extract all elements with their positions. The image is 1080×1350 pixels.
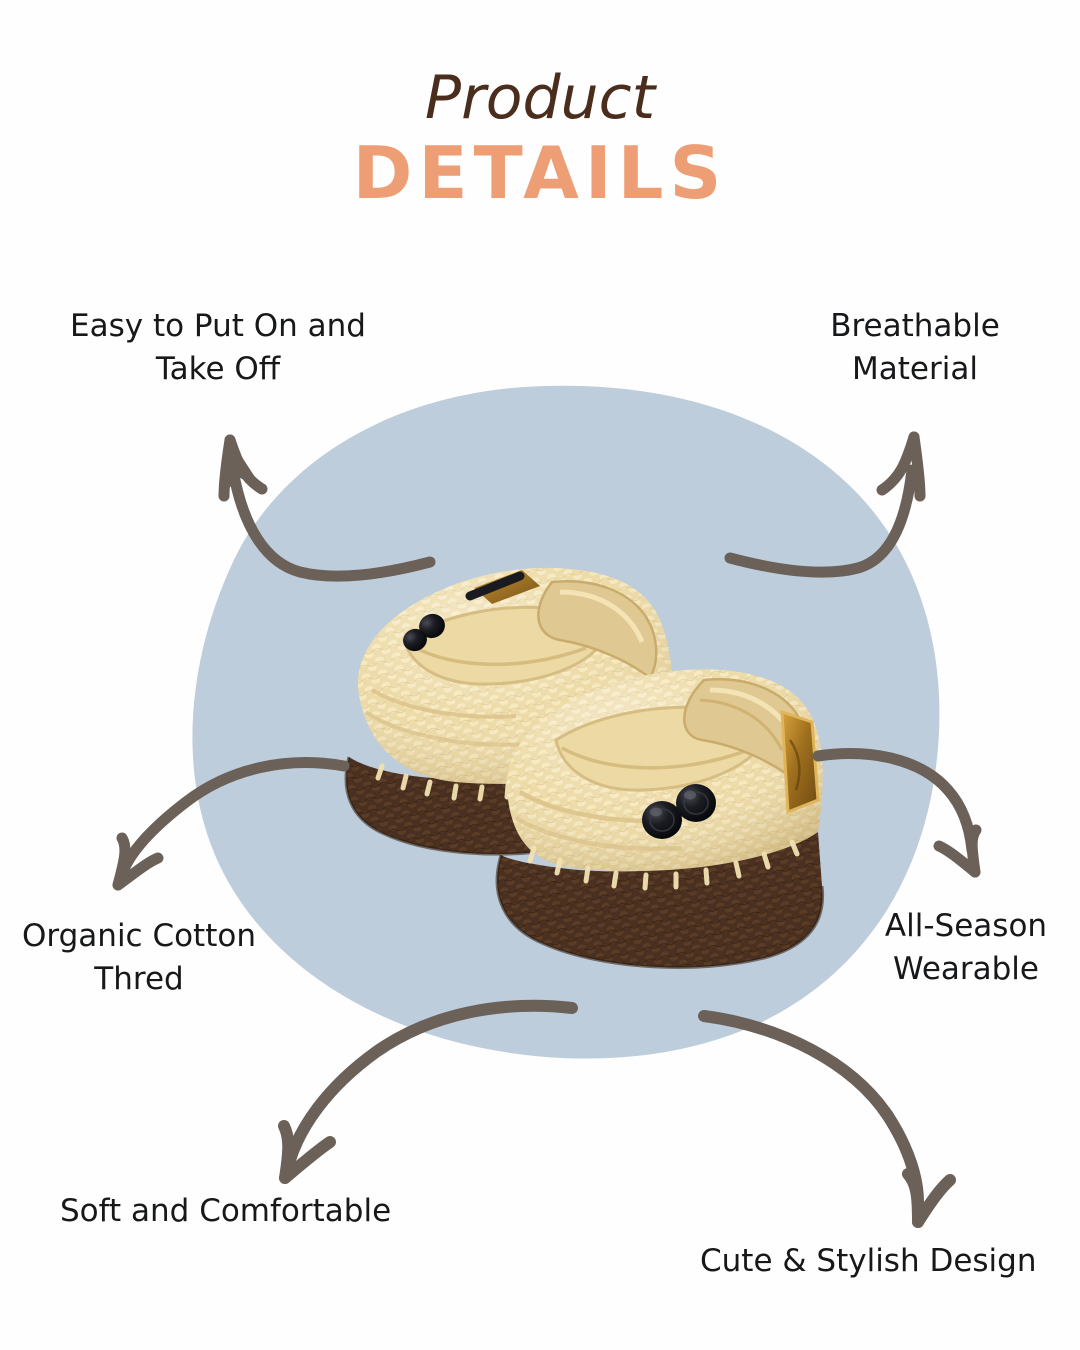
shoe-buttons: [642, 784, 716, 839]
feature-label-all-season: All-Season Wearable: [855, 905, 1077, 991]
feature-label-cute-stylish: Cute & Stylish Design: [700, 1240, 1080, 1283]
arrow-easy-on-off-icon: [224, 437, 430, 576]
blob-background: [192, 386, 939, 1059]
arrow-cute-stylish-icon: [704, 1016, 950, 1222]
shoe-back: [346, 568, 676, 854]
page-title: Product DETAILS: [0, 68, 1080, 212]
feature-label-breathable: Breathable Material: [760, 305, 1070, 391]
arrow-organic-icon: [118, 763, 344, 885]
product-details-poster: Product DETAILS: [0, 0, 1080, 1350]
title-main-line: DETAILS: [0, 136, 1080, 212]
arrow-soft-icon: [284, 1006, 572, 1178]
title-script-line: Product: [0, 68, 1080, 128]
arrow-all-season-icon: [818, 754, 976, 872]
feature-label-soft: Soft and Comfortable: [60, 1190, 480, 1233]
leather-tag: [782, 712, 818, 812]
product-image-crochet-baby-shoes: [346, 568, 823, 968]
arrow-group: [118, 437, 976, 1222]
arrow-breathable-icon: [730, 437, 920, 572]
feature-label-easy-on-off: Easy to Put On and Take Off: [28, 305, 408, 391]
feature-label-organic: Organic Cotton Thred: [0, 915, 284, 1001]
shoe-front: [497, 669, 823, 967]
